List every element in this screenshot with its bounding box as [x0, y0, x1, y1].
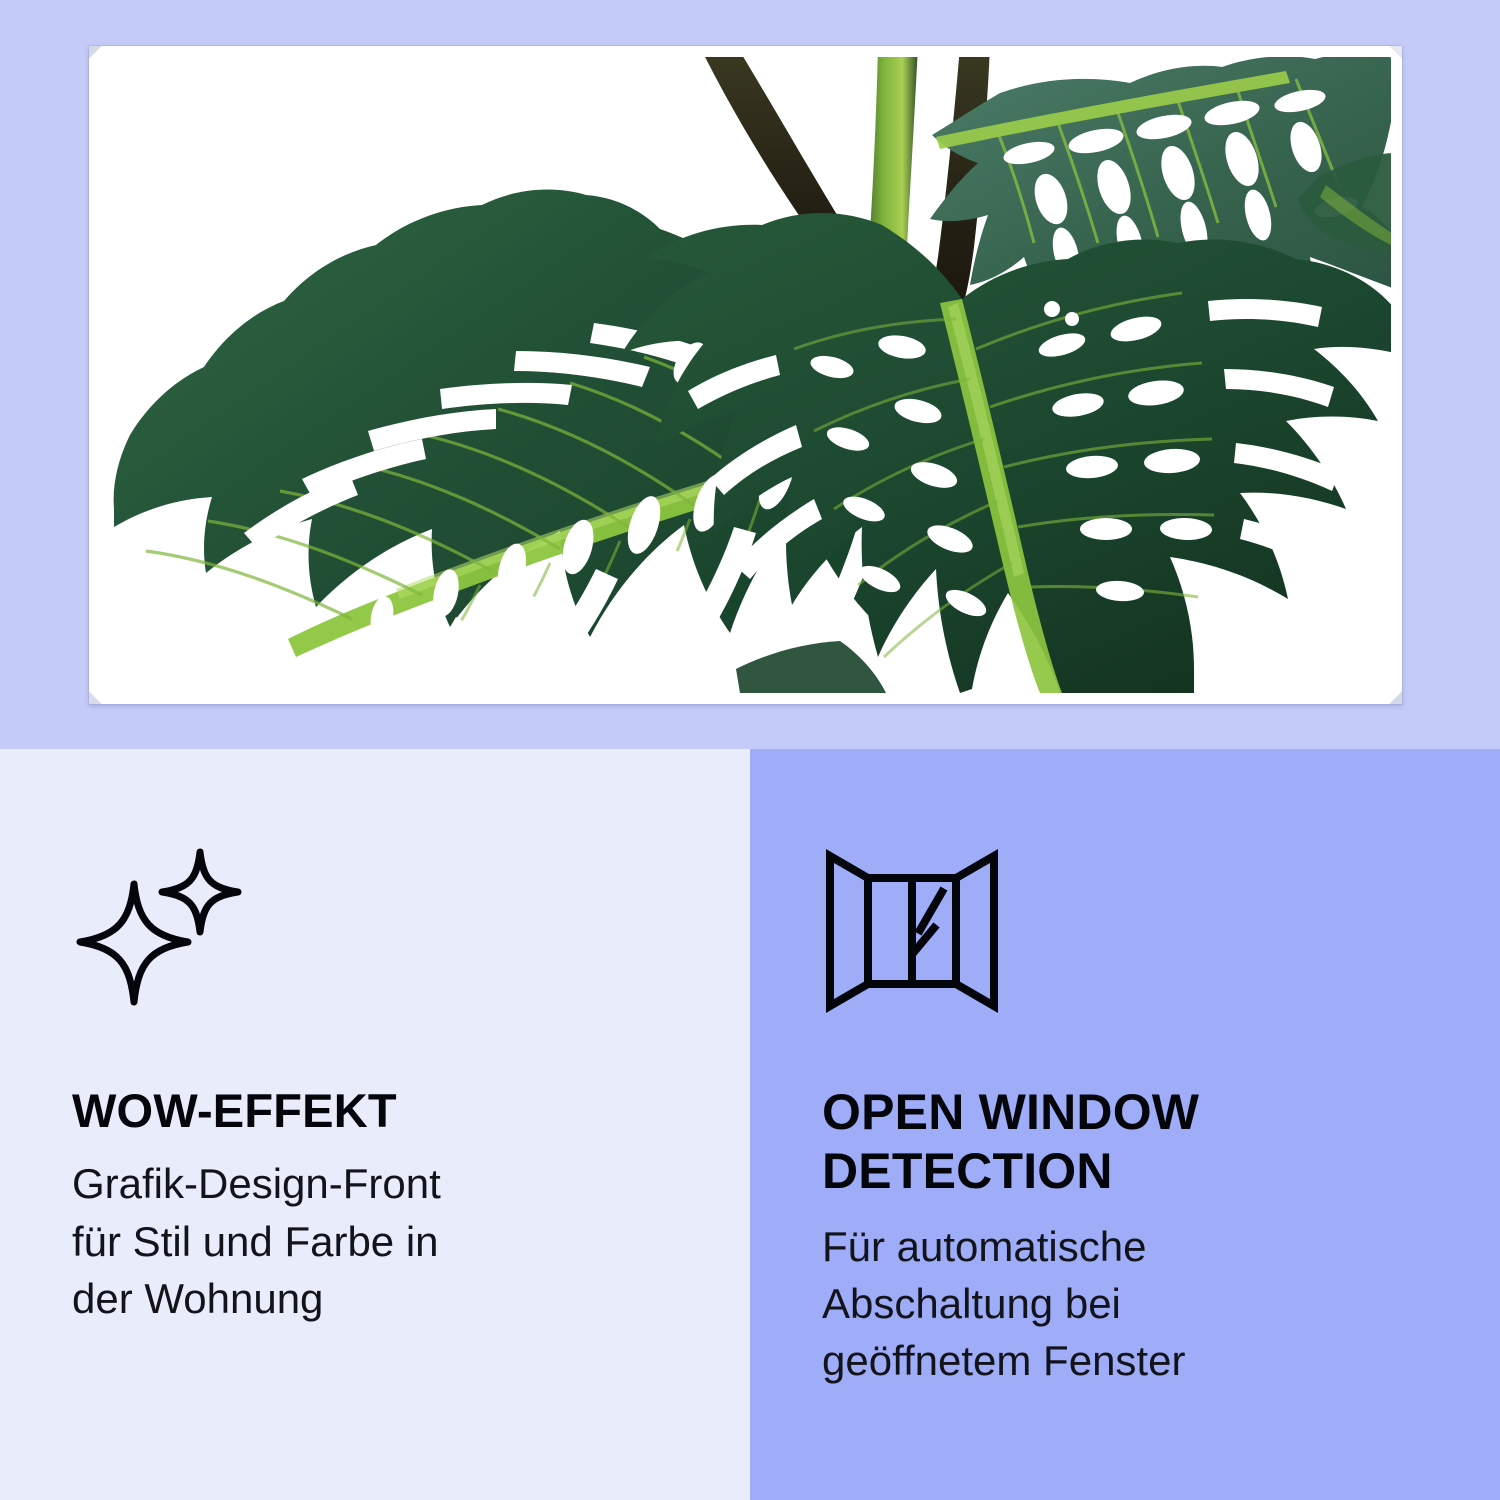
feature-description: Für automatische Abschaltung bei geöffne…	[822, 1218, 1428, 1389]
feature-strip: WOW-EFFEKT Grafik-Design-Front für Stil …	[0, 749, 1500, 1500]
feature-title: OPEN WINDOW DETECTION	[822, 1083, 1428, 1201]
sparkle-icon	[72, 846, 247, 1021]
feature-title: WOW-EFFEKT	[72, 1083, 678, 1138]
feature-card-wow-effekt: WOW-EFFEKT Grafik-Design-Front für Stil …	[0, 749, 750, 1500]
open-window-icon	[822, 846, 1002, 1016]
picture-frame	[89, 46, 1402, 704]
hero-section	[0, 0, 1500, 749]
feature-card-open-window-detection: OPEN WINDOW DETECTION Für automatische A…	[750, 749, 1500, 1500]
monstera-leaf-illustration	[100, 57, 1391, 693]
product-feature-page: WOW-EFFEKT Grafik-Design-Front für Stil …	[0, 0, 1500, 1500]
artwork-canvas	[100, 57, 1391, 693]
feature-description: Grafik-Design-Front für Stil und Farbe i…	[72, 1155, 678, 1326]
